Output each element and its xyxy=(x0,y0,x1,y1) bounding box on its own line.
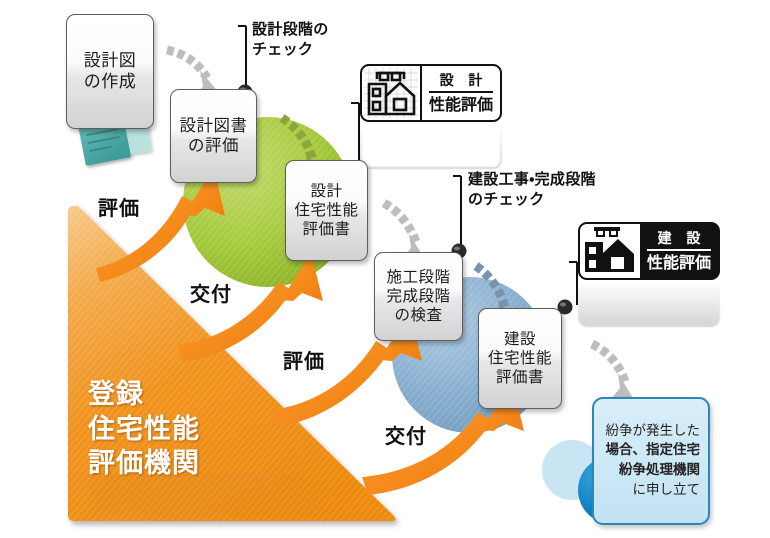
flow-label-issuance-1: 交付 xyxy=(190,278,232,307)
construction-seal-reflection xyxy=(578,281,720,327)
registered-agency-line-2: 住宅性能 xyxy=(88,413,200,448)
registered-agency-line-1: 登録 xyxy=(88,378,200,413)
design-seal-top-text: 設 計 xyxy=(435,74,488,91)
box-dispute-line-4: に申し立て xyxy=(633,481,701,501)
box-design-document-evaluation-line-1: 設計図書 xyxy=(180,116,248,136)
callout-design-stage-check-line-2: チェック xyxy=(252,40,329,60)
box-construction-certificate-line-2: 住宅性能 xyxy=(488,349,552,368)
callout-construction-stage-check-line-2: のチェック xyxy=(468,190,596,210)
box-design-drawing[interactable]: 設計図 の作成 xyxy=(66,14,154,129)
box-inspection-line-2: 完成段階 xyxy=(386,287,450,306)
seal-construction-performance-evaluation[interactable]: 建 設 性能評価 xyxy=(578,222,720,280)
box-design-certificate-line-1: 設計 xyxy=(310,182,342,201)
flow-label-issuance-2: 交付 xyxy=(385,420,427,449)
callout-design-stage-check: 設計段階の チェック xyxy=(252,20,329,60)
seal-design-performance-evaluation[interactable]: 設 計 性能評価 xyxy=(360,64,502,122)
box-design-document-evaluation[interactable]: 設計図書 の評価 xyxy=(170,89,257,183)
box-construction-completion-inspection[interactable]: 施工段階 完成段階 の検査 xyxy=(374,252,463,341)
box-construction-certificate-line-1: 建設 xyxy=(504,330,536,349)
flow-label-evaluation-2: 評価 xyxy=(283,345,325,374)
flow-arrow-evaluation-1 xyxy=(96,168,225,282)
flow-label-evaluation-1: 評価 xyxy=(98,192,140,221)
box-design-certificate-line-2: 住宅性能 xyxy=(294,201,358,220)
construction-seal-top-text: 建 設 xyxy=(653,232,706,249)
house-solid-icon xyxy=(580,224,638,278)
box-dispute-line-2: 場合、指定住宅 xyxy=(606,441,701,461)
box-design-housing-performance-certificate[interactable]: 設計 住宅性能 評価書 xyxy=(285,160,368,261)
design-seal-text: 設 計 性能評価 xyxy=(420,66,500,120)
box-design-drawing-line-2: の作成 xyxy=(82,72,139,93)
design-seal-bottom-text: 性能評価 xyxy=(429,91,493,113)
house-blueprint-icon xyxy=(362,66,420,120)
leader-construction-stage-check xyxy=(452,176,467,259)
callout-design-stage-check-line-1: 設計段階の xyxy=(252,20,329,40)
box-inspection-line-3: の検査 xyxy=(394,306,442,325)
construction-seal-bottom-text: 性能評価 xyxy=(647,249,711,271)
box-construction-housing-performance-certificate[interactable]: 建設 住宅性能 評価書 xyxy=(478,308,562,409)
connector-arrow-3 xyxy=(384,203,424,259)
leader-construction-seal xyxy=(558,262,578,315)
connector-arrow-5 xyxy=(592,344,633,399)
box-dispute-line-3: 紛争処理機関 xyxy=(619,461,700,481)
box-design-certificate-line-3: 評価書 xyxy=(302,220,350,239)
callout-construction-stage-check-line-1: 建設工事・完成段階 xyxy=(468,170,596,190)
callout-construction-stage-check: 建設工事・完成段階 のチェック xyxy=(468,170,596,210)
design-seal-reflection xyxy=(360,123,502,169)
construction-seal-text: 建 設 性能評価 xyxy=(638,224,718,278)
box-construction-certificate-line-3: 評価書 xyxy=(496,368,544,387)
box-design-drawing-line-1: 設計図 xyxy=(82,51,139,72)
registered-agency-label: 登録 住宅性能 評価機関 xyxy=(88,378,200,482)
box-dispute-line-1: 紛争が発生した xyxy=(606,422,701,442)
box-inspection-line-1: 施工段階 xyxy=(386,268,450,287)
diagram-canvas: 設計図 の作成 設計図書 の評価 設計 住宅性能 評価書 施工段階 完成段階 の… xyxy=(0,0,770,538)
box-design-document-evaluation-line-2: の評価 xyxy=(188,136,239,156)
registered-agency-line-3: 評価機関 xyxy=(88,447,200,482)
box-dispute-resolution[interactable]: 紛争が発生した 場合、指定住宅 紛争処理機関 に申し立て xyxy=(592,397,710,525)
